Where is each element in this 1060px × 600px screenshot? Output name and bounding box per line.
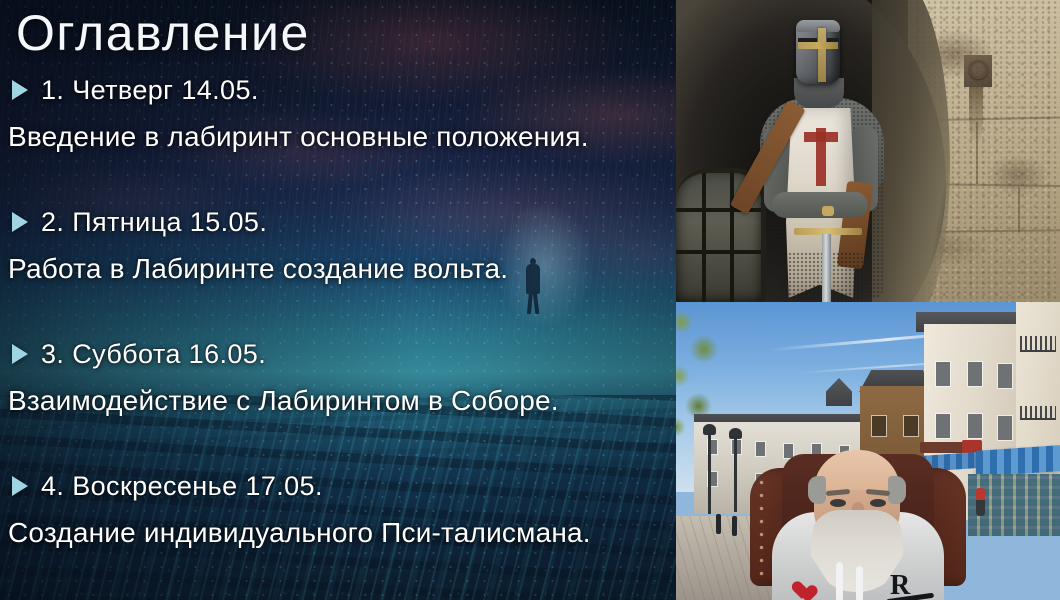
hoodie-drawstring	[836, 562, 843, 600]
street-lamp-post	[708, 430, 711, 514]
list-item[interactable]: 4. Воскресенье 17.05. Создание индивидуа…	[0, 468, 676, 600]
mortar-joint	[1018, 188, 1020, 232]
pedestrian	[976, 488, 985, 516]
toc-item-header: 2. Пятница 15.05.	[0, 204, 676, 240]
street-lamp-head	[729, 428, 742, 439]
sword-pommel	[822, 206, 834, 216]
media-column: R	[676, 0, 1060, 600]
presenter-webcam-street-photo: R	[676, 302, 1060, 600]
table-of-contents-list: 1. Четверг 14.05. Введение в лабиринт ос…	[0, 72, 676, 600]
iron-ring-icon	[969, 60, 988, 79]
slide-text-content: Оглавление 1. Четверг 14.05. Введение в …	[0, 0, 676, 600]
sword-blade	[822, 234, 831, 302]
toc-item-heading: 4. Воскресенье 17.05.	[41, 471, 323, 502]
play-triangle-icon	[12, 344, 28, 364]
templar-cross-icon	[804, 132, 838, 142]
wrought-iron-balcony	[1020, 406, 1056, 420]
hair-left	[808, 476, 826, 504]
toc-item-heading: 3. Суббота 16.05.	[41, 339, 266, 370]
wrought-iron-balcony	[1020, 336, 1056, 352]
eye-left	[830, 499, 846, 507]
toc-item-header: 1. Четверг 14.05.	[0, 72, 676, 108]
helm-cross-icon	[798, 42, 838, 49]
window	[936, 362, 950, 386]
hoodie-drawstring	[856, 566, 863, 600]
list-item[interactable]: 3. Суббота 16.05. Взаимодействие с Лабир…	[0, 336, 676, 468]
hair-right	[888, 476, 906, 504]
page-title: Оглавление	[16, 8, 310, 58]
window	[936, 414, 950, 438]
toc-item-description: Взаимодействие с Лабиринтом в Соборе.	[0, 385, 676, 417]
chair-stud-trim	[756, 476, 770, 576]
presentation-slide: Оглавление 1. Четверг 14.05. Введение в …	[0, 0, 1060, 600]
list-item[interactable]: 2. Пятница 15.05. Работа в Лабиринте соз…	[0, 204, 676, 336]
street-lamp-head	[703, 424, 716, 435]
toc-item-heading: 1. Четверг 14.05.	[41, 75, 259, 106]
street-lamp-post	[734, 434, 737, 512]
bollard	[732, 516, 737, 536]
wall-stain	[969, 86, 983, 146]
toc-item-description: Введение в лабиринт основные положения.	[0, 121, 676, 153]
presenter-figure: R	[770, 450, 946, 600]
knight-crossed-arms	[772, 192, 868, 218]
eye-right	[870, 499, 886, 507]
window	[968, 414, 982, 438]
window	[904, 416, 918, 436]
play-triangle-icon	[12, 212, 28, 232]
heart-icon	[800, 578, 820, 596]
play-triangle-icon	[12, 80, 28, 100]
play-triangle-icon	[12, 476, 28, 496]
toc-item-header: 3. Суббота 16.05.	[0, 336, 676, 372]
bollard	[716, 514, 721, 534]
window	[968, 362, 982, 386]
helm-cross-icon	[818, 28, 826, 82]
toc-item-description: Создание индивидуального Пси-талисмана.	[0, 517, 676, 549]
window	[872, 416, 886, 436]
window	[998, 364, 1012, 388]
knight-figure	[746, 16, 896, 302]
toc-item-heading: 2. Пятница 15.05.	[41, 207, 267, 238]
window	[998, 416, 1012, 440]
toc-item-description: Работа в Лабиринте создание вольта.	[0, 253, 676, 285]
list-item[interactable]: 1. Четверг 14.05. Введение в лабиринт ос…	[0, 72, 676, 204]
toc-item-header: 4. Воскресенье 17.05.	[0, 468, 676, 504]
slide-content-panel: Оглавление 1. Четверг 14.05. Введение в …	[0, 0, 676, 600]
templar-knight-photo	[676, 0, 1060, 302]
